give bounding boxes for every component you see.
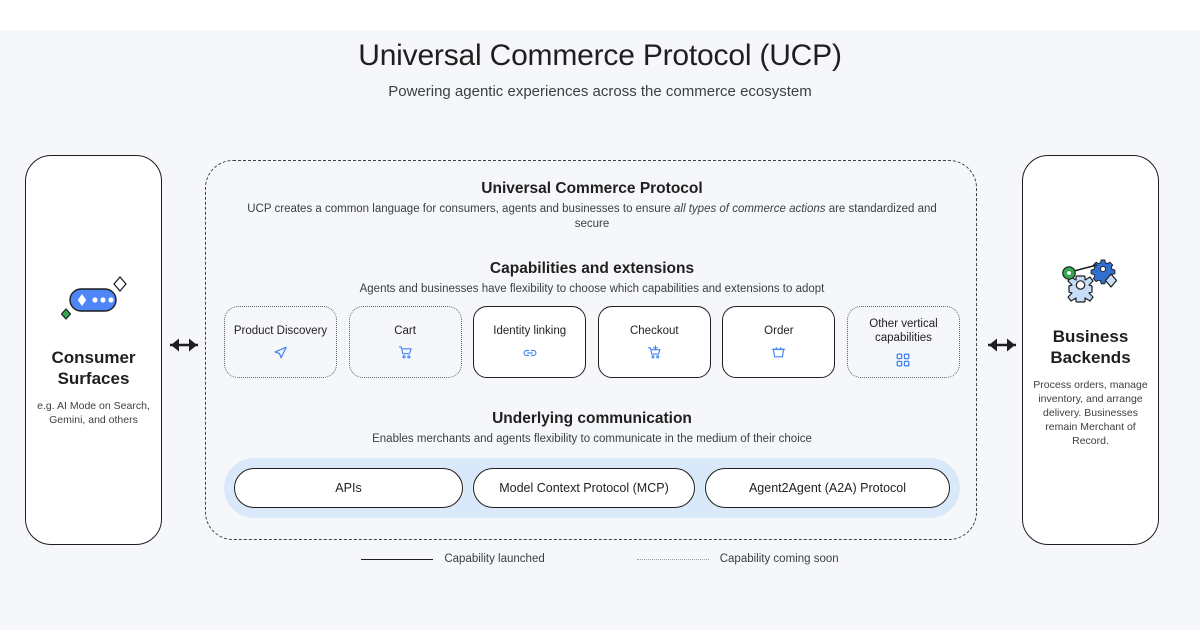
infographic-page: Universal Commerce Protocol (UCP) Poweri… [0,0,1200,630]
header: Universal Commerce Protocol (UCP) Poweri… [0,36,1200,102]
legend-label: Capability coming soon [720,553,839,565]
business-backends-panel: Business Backends Process orders, manage… [1022,155,1159,545]
legend: Capability launched Capability coming so… [0,553,1200,565]
ai-sparkle-pill-icon [56,273,132,329]
page-subtitle: Powering agentic experiences across the … [0,82,1200,102]
capability-card-product-discovery[interactable]: Product Discovery [224,306,337,378]
capability-card-identity-linking[interactable]: Identity linking [473,306,586,378]
consumer-surfaces-description: e.g. AI Mode on Search, Gemini, and othe… [36,399,151,427]
business-backends-title: Business Backends [1033,326,1148,368]
legend-label: Capability launched [444,553,544,565]
page-title: Universal Commerce Protocol (UCP) [0,36,1200,76]
capabilities-title: Capabilities and extensions [206,259,978,279]
left-bidirectional-arrow-icon [163,331,205,359]
legend-dotted-line-icon [637,559,709,560]
capability-card-checkout[interactable]: Checkout [598,306,711,378]
shopping-cart-icon [398,345,413,361]
capability-label: Order [764,324,793,338]
capability-label: Identity linking [493,324,566,338]
capability-label: Checkout [630,324,679,338]
ucp-section: Universal Commerce Protocol UCP creates … [206,179,978,232]
communication-band: APIs Model Context Protocol (MCP) Agent2… [224,458,960,518]
capability-cards-row: Product Discovery Cart [206,306,978,378]
ucp-description: UCP creates a common language for consum… [206,202,978,232]
capability-card-order[interactable]: Order [722,306,835,378]
legend-solid-line-icon [361,559,433,560]
ucp-desc-part1: UCP creates a common language for consum… [247,203,674,215]
link-chain-icon [522,345,538,361]
capabilities-subtitle: Agents and businesses have flexibility t… [206,282,978,297]
capability-card-other-vertical[interactable]: Other vertical capabilities [847,306,960,378]
capability-card-cart[interactable]: Cart [349,306,462,378]
communication-title: Underlying communication [206,409,978,429]
communication-pill-a2a[interactable]: Agent2Agent (A2A) Protocol [705,468,950,508]
communication-pill-apis[interactable]: APIs [234,468,463,508]
communication-pill-mcp[interactable]: Model Context Protocol (MCP) [473,468,695,508]
gears-settings-icon [1053,252,1129,308]
capability-label: Product Discovery [234,324,327,338]
grid-squares-icon [896,352,910,368]
ucp-title: Universal Commerce Protocol [206,179,978,199]
ucp-desc-italic: all types of commerce actions [674,203,825,215]
communication-subtitle: Enables merchants and agents flexibility… [206,432,978,447]
ucp-main-panel: Universal Commerce Protocol UCP creates … [205,160,977,540]
legend-item-coming-soon: Capability coming soon [637,553,839,565]
business-backends-description: Process orders, manage inventory, and ar… [1033,378,1148,448]
consumer-surfaces-title: Consumer Surfaces [36,347,151,389]
capability-label: Other vertical capabilities [854,317,953,345]
legend-item-launched: Capability launched [361,553,544,565]
cart-checkout-icon [647,345,662,361]
communication-section: Underlying communication Enables merchan… [206,409,978,447]
consumer-surfaces-panel: Consumer Surfaces e.g. AI Mode on Search… [25,155,162,545]
order-basket-icon [771,345,786,361]
right-bidirectional-arrow-icon [981,331,1023,359]
send-paper-plane-icon [273,345,288,361]
capability-label: Cart [394,324,416,338]
capabilities-section: Capabilities and extensions Agents and b… [206,259,978,297]
